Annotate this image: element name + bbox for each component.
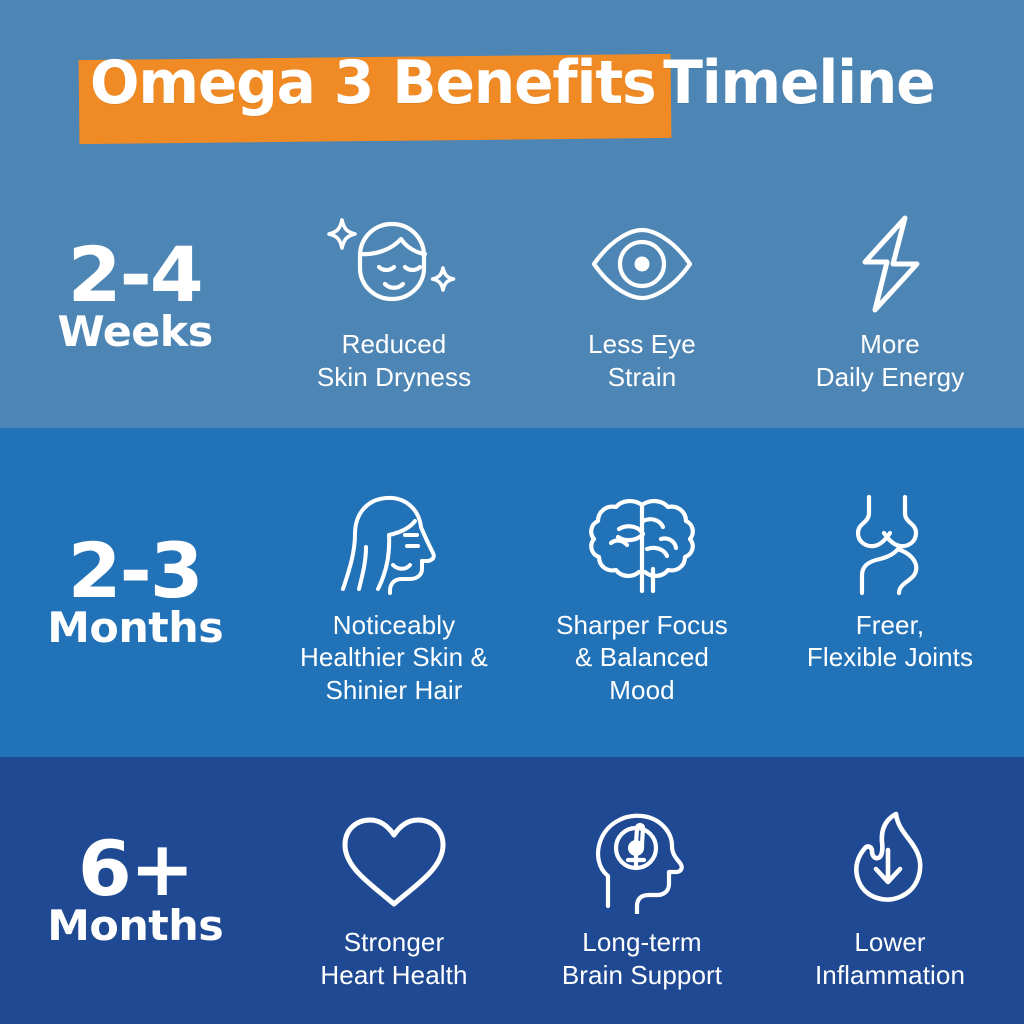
period-unit-row1: Weeks — [57, 311, 212, 353]
benefit-item: Sharper Focus & Balanced Mood — [525, 491, 760, 707]
title-plain-text: Timeline — [663, 48, 934, 118]
period-label-row2: 2-3 Months — [0, 536, 270, 650]
flame-down-arrow-icon — [844, 808, 936, 916]
sparkle-face-icon — [319, 210, 469, 318]
benefit-item: Reduced Skin Dryness — [277, 210, 512, 393]
benefit-item: Noticeably Healthier Skin & Shinier Hair — [277, 491, 512, 707]
period-number-row2: 2-3 — [68, 536, 202, 606]
benefit-label: Sharper Focus & Balanced Mood — [556, 609, 728, 707]
benefit-item: Long-term Brain Support — [525, 808, 760, 991]
benefit-label: Reduced Skin Dryness — [317, 328, 471, 393]
benefit-label: Long-term Brain Support — [562, 926, 722, 991]
lightning-bolt-icon — [847, 210, 933, 318]
benefit-label: More Daily Energy — [816, 328, 965, 393]
benefit-label: Freer, Flexible Joints — [807, 609, 973, 674]
benefit-label: Less Eye Strain — [588, 328, 696, 393]
benefit-label: Noticeably Healthier Skin & Shinier Hair — [300, 609, 488, 707]
benefit-item: Less Eye Strain — [525, 210, 760, 393]
period-label-row3: 6+ Months — [0, 834, 270, 948]
title-highlighted-text: Omega 3 Benefits — [90, 48, 655, 118]
knee-joint-icon — [842, 491, 938, 599]
benefits-list-row1: Reduced Skin Dryness Less Eye Strain — [270, 200, 1024, 393]
period-unit-row2: Months — [47, 607, 223, 649]
benefit-item: Lower Inflammation — [773, 808, 1008, 991]
period-number-row1: 2-4 — [68, 240, 202, 310]
title-wrapper: Omega 3 BenefitsTimeline — [71, 53, 954, 113]
benefits-list-row3: Stronger Heart Health Long-term Brain Su… — [270, 790, 1024, 991]
infographic-root: Omega 3 BenefitsTimeline 2-4 Weeks — [0, 0, 1024, 1024]
timeline-row-months-6plus: 6+ Months Stronger Heart Health — [0, 757, 1024, 1024]
period-label-row1: 2-4 Weeks — [0, 240, 270, 354]
benefit-label: Lower Inflammation — [815, 926, 965, 991]
benefit-item: Freer, Flexible Joints — [773, 491, 1008, 674]
page-title: Omega 3 BenefitsTimeline — [90, 53, 934, 113]
period-unit-row3: Months — [47, 905, 223, 947]
eye-icon — [586, 210, 698, 318]
benefits-list-row2: Noticeably Healthier Skin & Shinier Hair — [270, 479, 1024, 707]
benefit-label: Stronger Heart Health — [320, 926, 467, 991]
title-band: Omega 3 BenefitsTimeline — [0, 0, 1024, 165]
head-mind-icon — [588, 808, 696, 916]
timeline-row-weeks-2-4: 2-4 Weeks Reduced Skin Dryness — [0, 165, 1024, 428]
heart-icon — [337, 808, 451, 916]
woman-hair-profile-icon — [335, 491, 453, 599]
timeline-row-months-2-3: 2-3 Months Noticeably He — [0, 428, 1024, 757]
benefit-item: Stronger Heart Health — [277, 808, 512, 991]
benefit-item: More Daily Energy — [773, 210, 1008, 393]
period-number-row3: 6+ — [78, 834, 193, 904]
brain-icon — [583, 491, 701, 599]
